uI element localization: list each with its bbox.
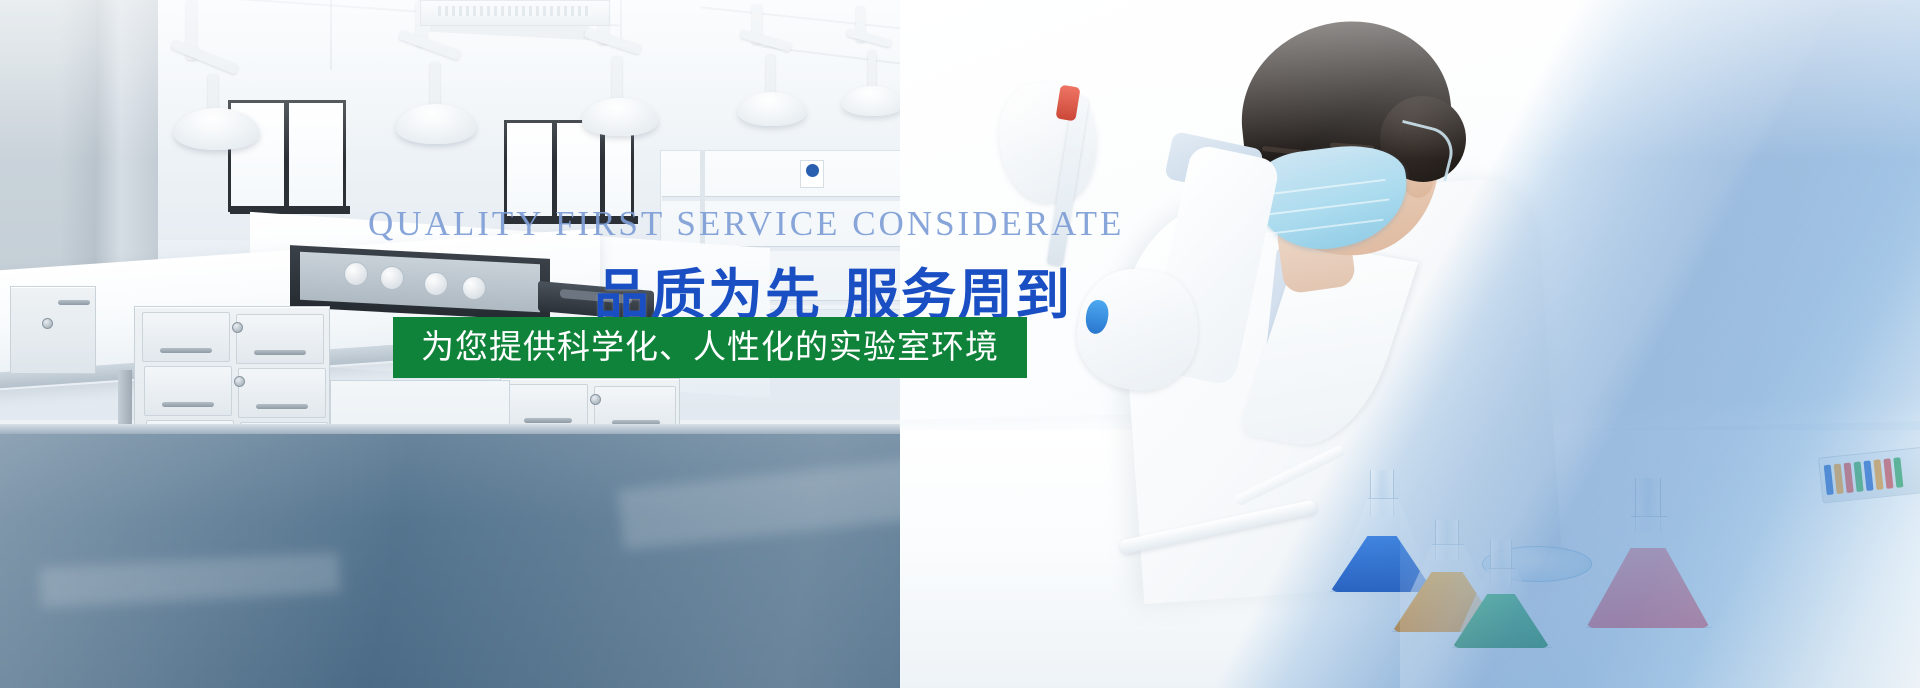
subtitle-bar: 为您提供科学化、人性化的实验室环境 (393, 317, 1027, 378)
subtitle-text: 为您提供科学化、人性化的实验室环境 (421, 327, 999, 366)
english-tagline: QUALITY FIRST SERVICE CONSIDERATE (368, 204, 1124, 244)
banner-copy: QUALITY FIRST SERVICE CONSIDERATE 品质为先服务… (0, 0, 1920, 688)
hero-banner: QUALITY FIRST SERVICE CONSIDERATE 品质为先服务… (0, 0, 1920, 688)
